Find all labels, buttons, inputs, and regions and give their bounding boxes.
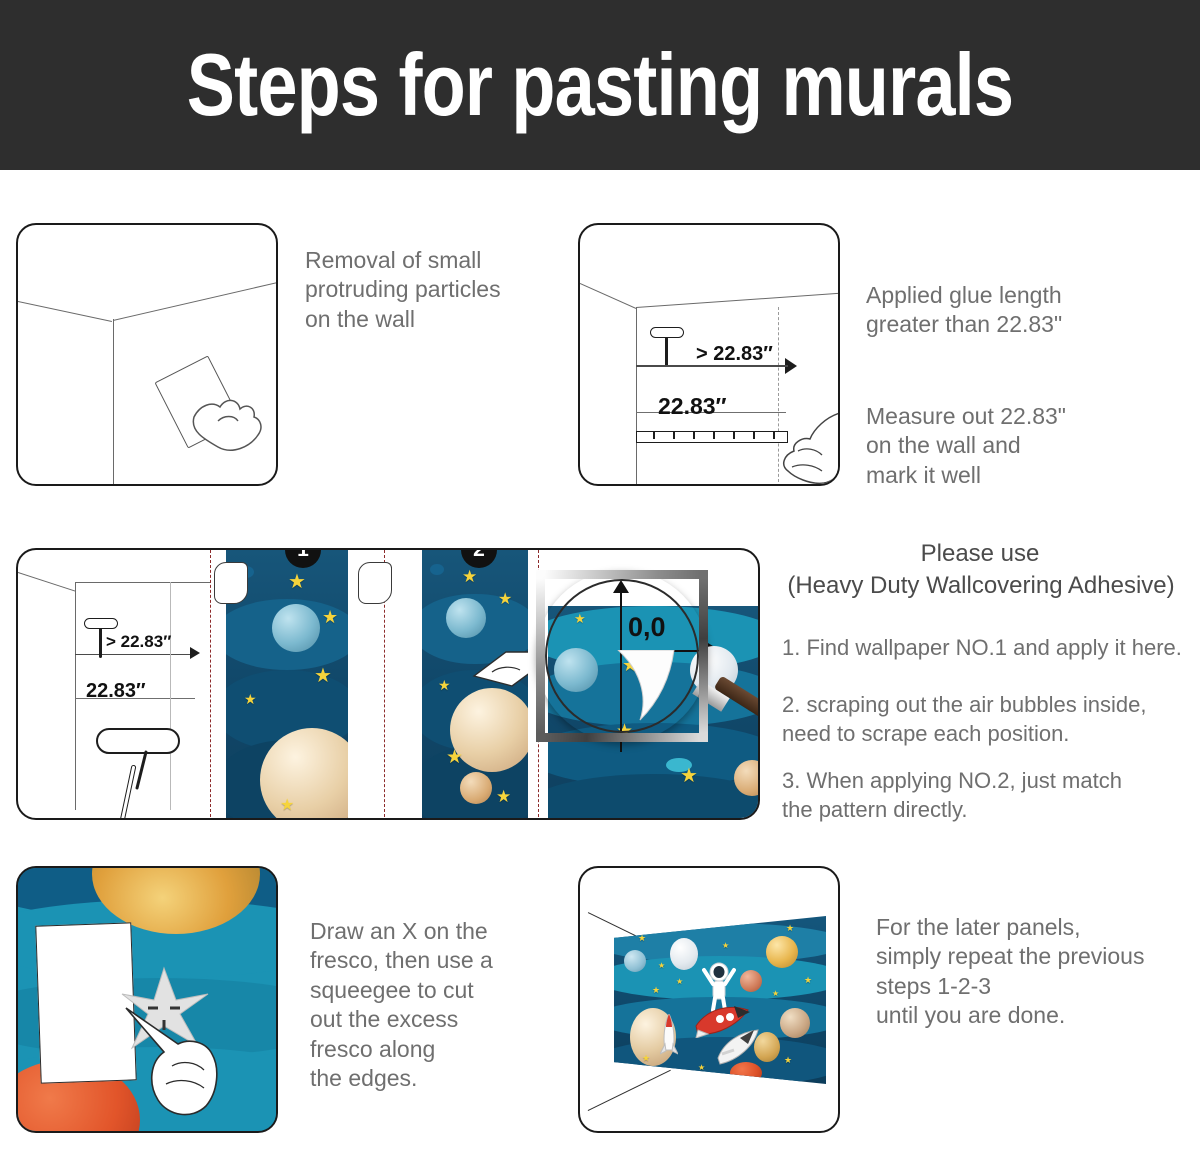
step-2-caption-1: Applied glue length greater than 22.83" xyxy=(866,281,1186,340)
moon-icon xyxy=(670,938,698,970)
tape-measure-icon xyxy=(636,431,788,443)
glue-arrow-line xyxy=(636,365,788,367)
step-5-caption: For the later panels, simply repeat the … xyxy=(876,913,1200,1031)
star-icon: ★ xyxy=(676,978,683,986)
tape-tick xyxy=(733,432,735,439)
step-1-caption: Removal of small protruding particles on… xyxy=(305,246,565,334)
middle-measure-label: 22.83″ xyxy=(86,680,146,703)
step-4-caption: Draw an X on the fresco, then use a sque… xyxy=(310,917,590,1094)
star-icon: ★ xyxy=(638,934,646,943)
hand-icon xyxy=(358,562,392,604)
star-icon: ★ xyxy=(804,976,812,985)
glue-length-label: > 22.83″ xyxy=(696,343,773,366)
star-icon: ★ xyxy=(314,666,332,686)
star-icon: ★ xyxy=(784,1056,792,1065)
dashed-seam-icon xyxy=(538,550,539,820)
star-icon: ★ xyxy=(652,986,660,995)
adhesive-heading-line1: Please use xyxy=(780,540,1180,568)
star-icon: ★ xyxy=(446,748,463,767)
hand-icon xyxy=(776,407,840,486)
step-4-panel xyxy=(16,866,278,1133)
tape-tick xyxy=(773,432,775,439)
step-1-panel xyxy=(16,223,278,486)
middle-glue-length-label: > 22.83″ xyxy=(106,632,171,652)
tape-tick xyxy=(753,432,755,439)
star-icon: ★ xyxy=(496,788,511,805)
saturn-icon xyxy=(766,936,798,968)
wall-corner-vertical-line xyxy=(113,319,114,486)
ceiling-right-line xyxy=(636,292,840,308)
arrow-right-icon xyxy=(190,647,200,659)
measure-length-label: 22.83″ xyxy=(658,393,727,420)
star-icon: ★ xyxy=(438,678,451,692)
corner-vertical-line xyxy=(636,307,637,486)
tape-tick xyxy=(713,432,715,439)
finished-room-icon: ★ ★ ★ ★ ★ ★ ★ ★ ★ ★ ★ xyxy=(614,916,826,1084)
small-rocket-icon xyxy=(660,1014,678,1056)
star-icon: ★ xyxy=(280,798,294,814)
step-2-panel: > 22.83″ 22.83″ xyxy=(578,223,840,486)
tape-tick xyxy=(693,432,695,439)
planet-icon xyxy=(780,1008,810,1038)
room-bottom-line xyxy=(588,1070,671,1112)
page-title: Steps for pasting murals xyxy=(108,0,1092,170)
adhesive-heading-line2: (Heavy Duty Wallcovering Adhesive) xyxy=(766,572,1196,600)
hand-icon xyxy=(472,642,528,700)
star-icon: ★ xyxy=(322,608,338,626)
wall-sketch-region: > 22.83″ 22.83″ xyxy=(18,550,208,820)
planet-icon xyxy=(624,950,646,972)
wall-corner-right-line xyxy=(113,280,278,321)
tape-tick xyxy=(673,432,675,439)
step-5-panel: ★ ★ ★ ★ ★ ★ ★ ★ ★ ★ ★ xyxy=(578,866,840,1133)
star-icon: ★ xyxy=(680,766,698,786)
step-2-caption-2: Measure out 22.83" on the wall and mark … xyxy=(866,402,1186,490)
star-icon: ★ xyxy=(722,942,729,950)
star-icon: ★ xyxy=(288,572,306,592)
hand-with-squeegee-icon xyxy=(120,980,248,1120)
planet-icon xyxy=(446,598,486,638)
tape-tick xyxy=(653,432,655,439)
star-icon: ★ xyxy=(462,568,477,585)
mural-strip-2: ★ ★ ★ ★ ★ xyxy=(422,550,528,820)
planet-icon xyxy=(272,604,320,652)
instruction-item-2: 2. scraping out the air bubbles inside, … xyxy=(782,691,1192,748)
ceiling-left-line xyxy=(580,283,637,309)
star-icon: ★ xyxy=(772,990,779,998)
peeled-corner-icon xyxy=(614,650,700,754)
star-icon: ★ xyxy=(642,1054,650,1063)
star-icon: ★ xyxy=(658,962,665,970)
middle-steps-panel: > 22.83″ 22.83″ ★ ★ ★ ★ ★ 1 ★ ★ xyxy=(16,548,760,820)
origin-label: 0,0 xyxy=(628,612,666,643)
wall-corner-left-line xyxy=(18,301,112,322)
star-icon: ★ xyxy=(698,1064,705,1072)
instruction-item-3: 3. When applying NO.2, just match the pa… xyxy=(782,767,1192,824)
dashed-seam-icon xyxy=(210,550,211,820)
planet-icon xyxy=(460,772,492,804)
star-icon: ★ xyxy=(498,592,512,608)
planet-icon xyxy=(430,564,444,575)
header-bar: Steps for pasting murals xyxy=(0,0,1200,170)
planet-icon xyxy=(740,970,762,992)
hand-icon xyxy=(214,562,248,604)
star-icon: ★ xyxy=(786,924,794,933)
shuttle-icon xyxy=(714,1028,762,1066)
instruction-item-1: 1. Find wallpaper NO.1 and apply it here… xyxy=(782,634,1192,663)
star-icon: ★ xyxy=(244,692,257,706)
hand-with-scraper-icon xyxy=(186,375,278,461)
